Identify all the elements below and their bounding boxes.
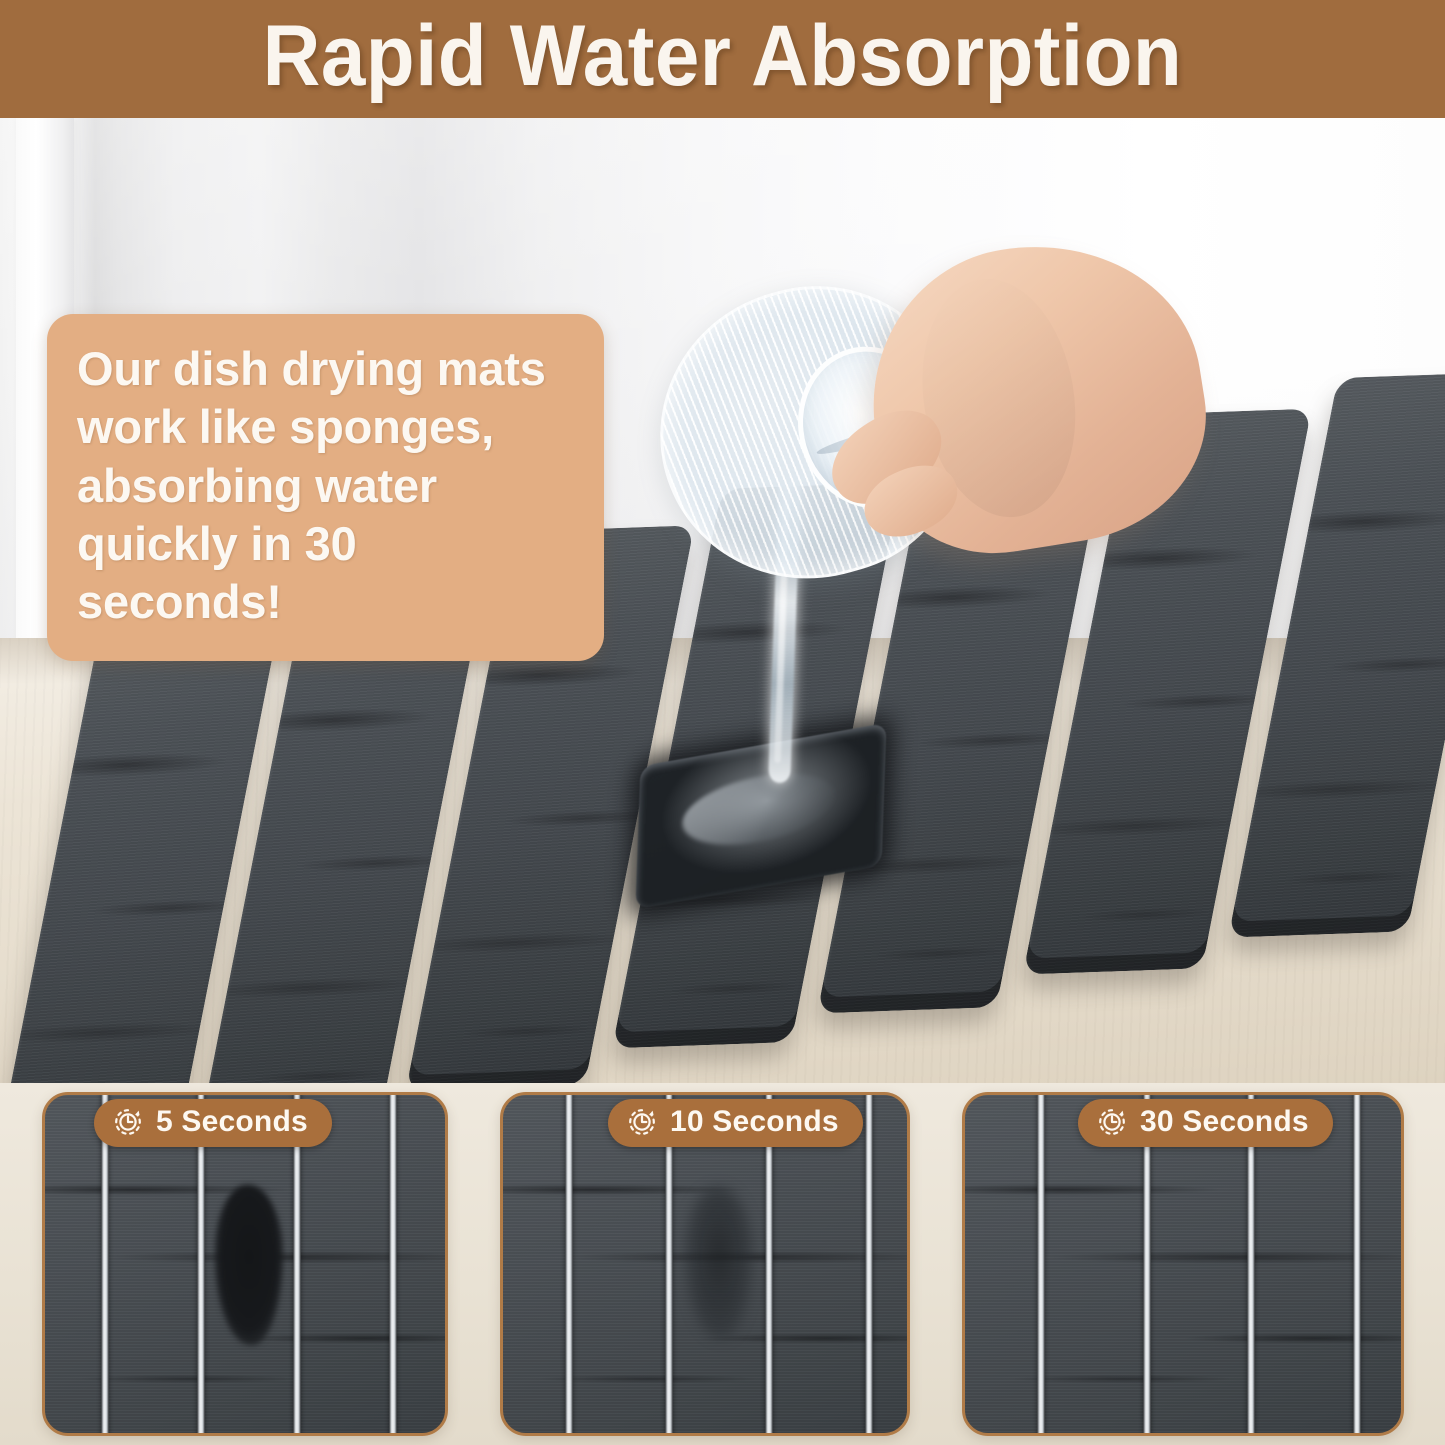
badge-label: 30 Seconds: [1140, 1107, 1309, 1137]
page-title: Rapid Water Absorption: [263, 13, 1183, 105]
mat-seam: [389, 1092, 397, 1436]
mat-seam: [1037, 1092, 1045, 1436]
callout-line: work like sponges,: [77, 398, 574, 456]
clock-timer-icon: [112, 1106, 144, 1138]
badge-5-seconds: 5 Seconds: [94, 1099, 332, 1147]
header-banner: Rapid Water Absorption: [0, 0, 1445, 118]
badge-10-seconds: 10 Seconds: [608, 1099, 863, 1147]
mat-seam: [865, 1092, 873, 1436]
badge-30-seconds: 30 Seconds: [1078, 1099, 1333, 1147]
badge-label: 5 Seconds: [156, 1107, 308, 1137]
mat-seam: [565, 1092, 573, 1436]
callout-line: Our dish drying mats: [77, 340, 574, 398]
callout-line: quickly in 30 seconds!: [77, 515, 574, 632]
callout-line: absorbing water: [77, 457, 574, 515]
mat-seam: [1353, 1092, 1361, 1436]
badge-label: 10 Seconds: [670, 1107, 839, 1137]
absorption-timeline-panels: 5 Seconds 10 Seconds: [0, 1083, 1445, 1445]
callout-box: Our dish drying mats work like sponges, …: [47, 314, 604, 661]
clock-timer-icon: [1096, 1106, 1128, 1138]
hero-product-photo: Our dish drying mats work like sponges, …: [0, 118, 1445, 1083]
clock-timer-icon: [626, 1106, 658, 1138]
